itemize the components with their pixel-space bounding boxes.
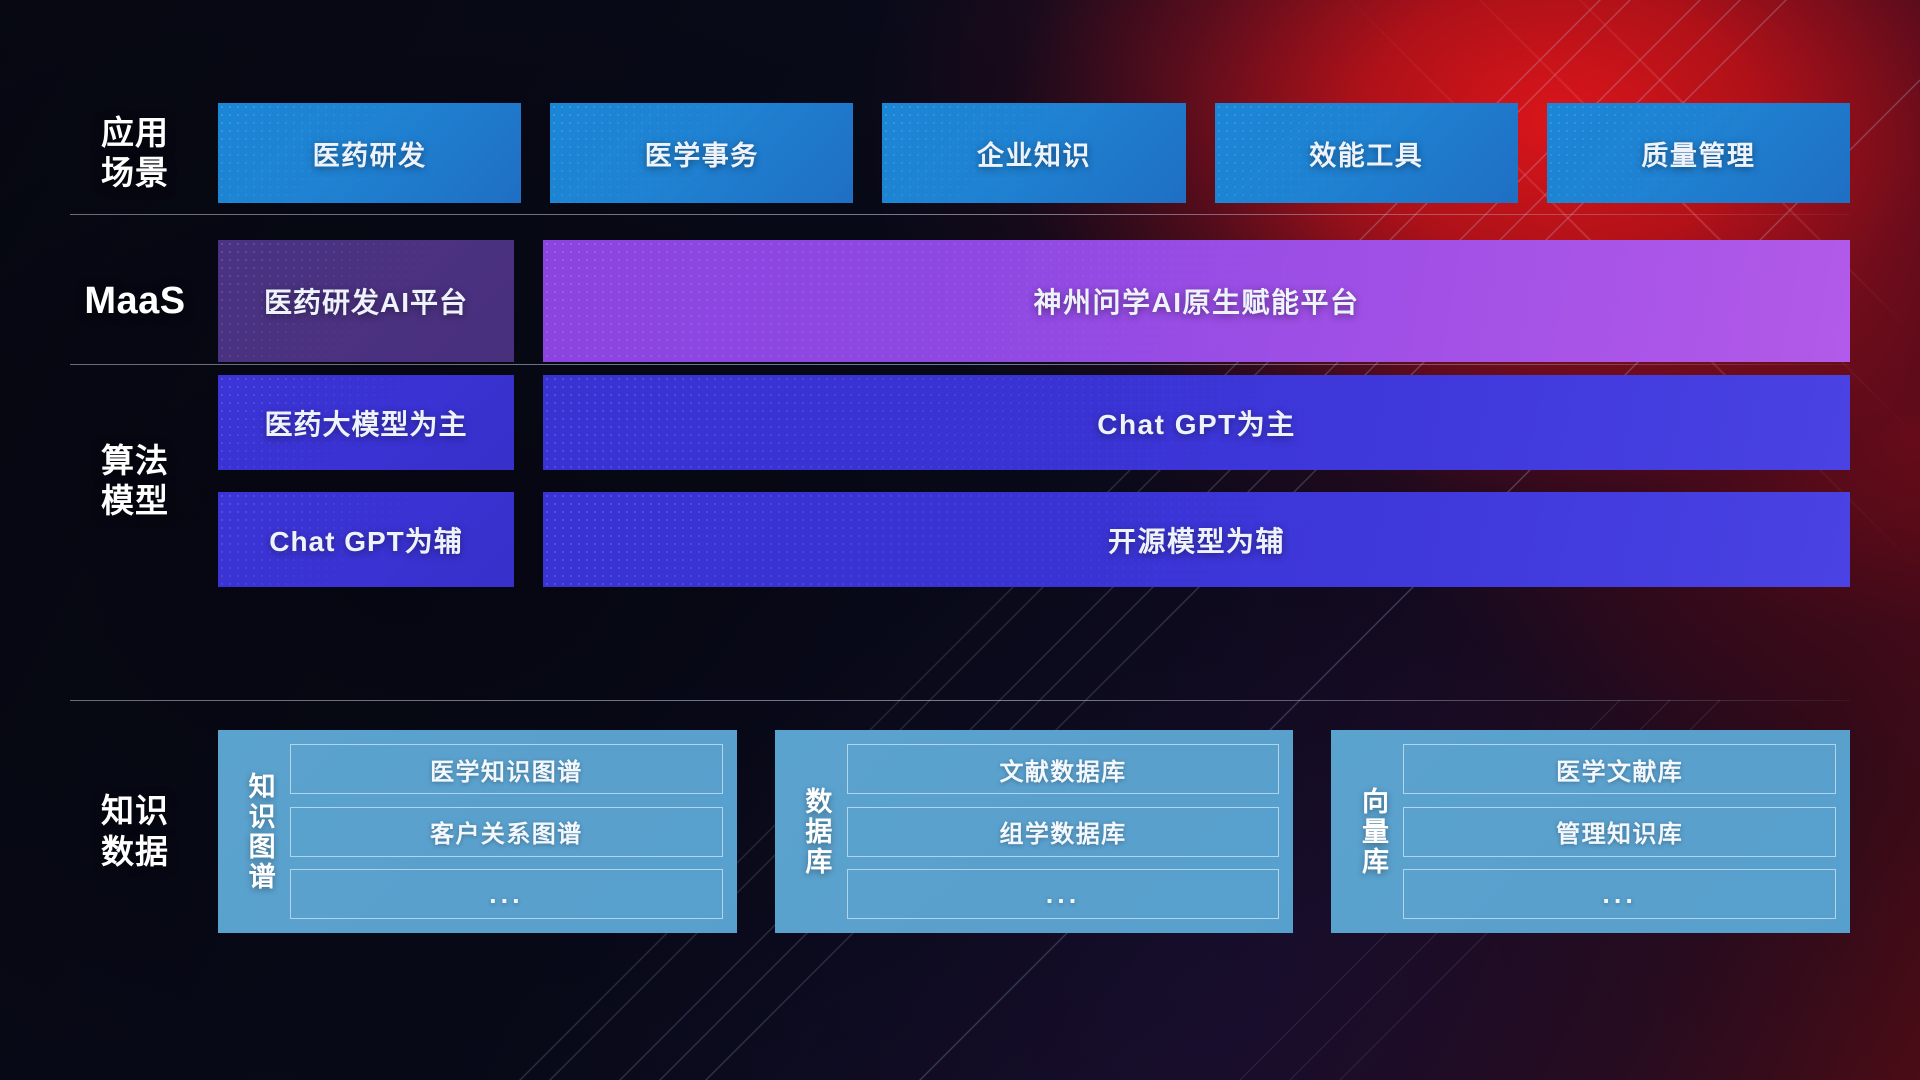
app-box-drug-rd[interactable]: 医药研发 bbox=[218, 103, 521, 203]
maas-box-label: 神州问学AI原生赋能平台 bbox=[1033, 281, 1359, 321]
app-box-label: 医药研发 bbox=[313, 134, 427, 173]
knowledge-group-title: 数据库 bbox=[785, 744, 847, 919]
maas-box-label: 医药研发AI平台 bbox=[264, 281, 468, 321]
knowledge-item[interactable]: 医学知识图谱 bbox=[290, 744, 723, 794]
application-box-list: 医药研发 医学事务 企业知识 效能工具 bbox=[218, 103, 1850, 203]
architecture-diagram: 应用 场景 医药研发 医学事务 企业知识 bbox=[0, 0, 1920, 1080]
row-label-application-scenarios: 应用 场景 bbox=[70, 113, 200, 194]
row-knowledge-data: 知识 数据 知识图谱 医学知识图谱 客户关系图谱 ... 数据 bbox=[70, 730, 1850, 933]
app-box-label: 医学事务 bbox=[645, 134, 759, 173]
algo-box-opensource-secondary[interactable]: 开源模型为辅 bbox=[543, 492, 1850, 587]
app-box-medical-affairs[interactable]: 医学事务 bbox=[550, 103, 853, 203]
knowledge-group-list: 知识图谱 医学知识图谱 客户关系图谱 ... 数据库 文献数据库 组学数据库 bbox=[218, 730, 1850, 933]
row-body-application-scenarios: 医药研发 医学事务 企业知识 效能工具 bbox=[218, 103, 1850, 203]
maas-box-shenzhou-wenxue-platform[interactable]: 神州问学AI原生赋能平台 bbox=[543, 240, 1850, 362]
algo-box-chatgpt-secondary[interactable]: Chat GPT为辅 bbox=[218, 492, 514, 587]
knowledge-item-more[interactable]: ... bbox=[290, 869, 723, 919]
knowledge-item[interactable]: 文献数据库 bbox=[847, 744, 1280, 794]
knowledge-item-list: 医学知识图谱 客户关系图谱 ... bbox=[290, 744, 723, 919]
knowledge-group-title: 向量库 bbox=[1341, 744, 1403, 919]
divider-after-maas bbox=[70, 364, 1850, 365]
row-maas: MaaS 医药研发AI平台 神州问学AI原生赋能平台 bbox=[70, 240, 1850, 362]
row-algorithm-models: 算法 模型 医药大模型为主 Chat GPT为主 Chat GPT为辅 bbox=[70, 375, 1850, 587]
algorithm-secondary-row: Chat GPT为辅 开源模型为辅 bbox=[218, 492, 1850, 587]
algo-box-pharma-llm-primary[interactable]: 医药大模型为主 bbox=[218, 375, 514, 470]
knowledge-item-list: 医学文献库 管理知识库 ... bbox=[1403, 744, 1836, 919]
knowledge-group-knowledge-graph[interactable]: 知识图谱 医学知识图谱 客户关系图谱 ... bbox=[218, 730, 737, 933]
knowledge-item[interactable]: 医学文献库 bbox=[1403, 744, 1836, 794]
knowledge-item[interactable]: 组学数据库 bbox=[847, 807, 1280, 857]
diagram-stage: 应用 场景 医药研发 医学事务 企业知识 bbox=[0, 0, 1920, 1080]
algo-box-label: Chat GPT为辅 bbox=[269, 520, 463, 560]
app-box-label: 质量管理 bbox=[1641, 134, 1755, 173]
algo-box-chatgpt-primary[interactable]: Chat GPT为主 bbox=[543, 375, 1850, 470]
knowledge-group-database[interactable]: 数据库 文献数据库 组学数据库 ... bbox=[775, 730, 1294, 933]
maas-box-drug-rd-ai-platform[interactable]: 医药研发AI平台 bbox=[218, 240, 514, 362]
app-box-label: 企业知识 bbox=[977, 134, 1091, 173]
row-body-algorithm-models: 医药大模型为主 Chat GPT为主 Chat GPT为辅 开源模型为辅 bbox=[218, 375, 1850, 587]
knowledge-group-vector-store[interactable]: 向量库 医学文献库 管理知识库 ... bbox=[1331, 730, 1850, 933]
algo-box-label: Chat GPT为主 bbox=[1097, 403, 1296, 443]
knowledge-item-more[interactable]: ... bbox=[1403, 869, 1836, 919]
divider-after-application-scenarios bbox=[70, 214, 1850, 215]
row-label-algorithm-models: 算法 模型 bbox=[70, 441, 200, 522]
row-application-scenarios: 应用 场景 医药研发 医学事务 企业知识 bbox=[70, 103, 1850, 203]
app-box-quality-management[interactable]: 质量管理 bbox=[1547, 103, 1850, 203]
knowledge-group-title: 知识图谱 bbox=[228, 744, 290, 919]
row-body-maas: 医药研发AI平台 神州问学AI原生赋能平台 bbox=[218, 240, 1850, 362]
row-label-knowledge-data: 知识 数据 bbox=[70, 791, 200, 872]
knowledge-item-list: 文献数据库 组学数据库 ... bbox=[847, 744, 1280, 919]
algo-box-label: 开源模型为辅 bbox=[1108, 520, 1285, 560]
row-label-maas: MaaS bbox=[70, 278, 200, 324]
maas-box-list: 医药研发AI平台 神州问学AI原生赋能平台 bbox=[218, 240, 1850, 362]
row-body-knowledge-data: 知识图谱 医学知识图谱 客户关系图谱 ... 数据库 文献数据库 组学数据库 bbox=[218, 730, 1850, 933]
divider-after-algorithm-models bbox=[70, 700, 1850, 701]
app-box-efficiency-tools[interactable]: 效能工具 bbox=[1215, 103, 1518, 203]
knowledge-item[interactable]: 管理知识库 bbox=[1403, 807, 1836, 857]
algorithm-primary-row: 医药大模型为主 Chat GPT为主 bbox=[218, 375, 1850, 470]
app-box-label: 效能工具 bbox=[1309, 134, 1423, 173]
knowledge-item-more[interactable]: ... bbox=[847, 869, 1280, 919]
algo-box-label: 医药大模型为主 bbox=[264, 403, 467, 443]
app-box-enterprise-knowledge[interactable]: 企业知识 bbox=[882, 103, 1185, 203]
knowledge-item[interactable]: 客户关系图谱 bbox=[290, 807, 723, 857]
